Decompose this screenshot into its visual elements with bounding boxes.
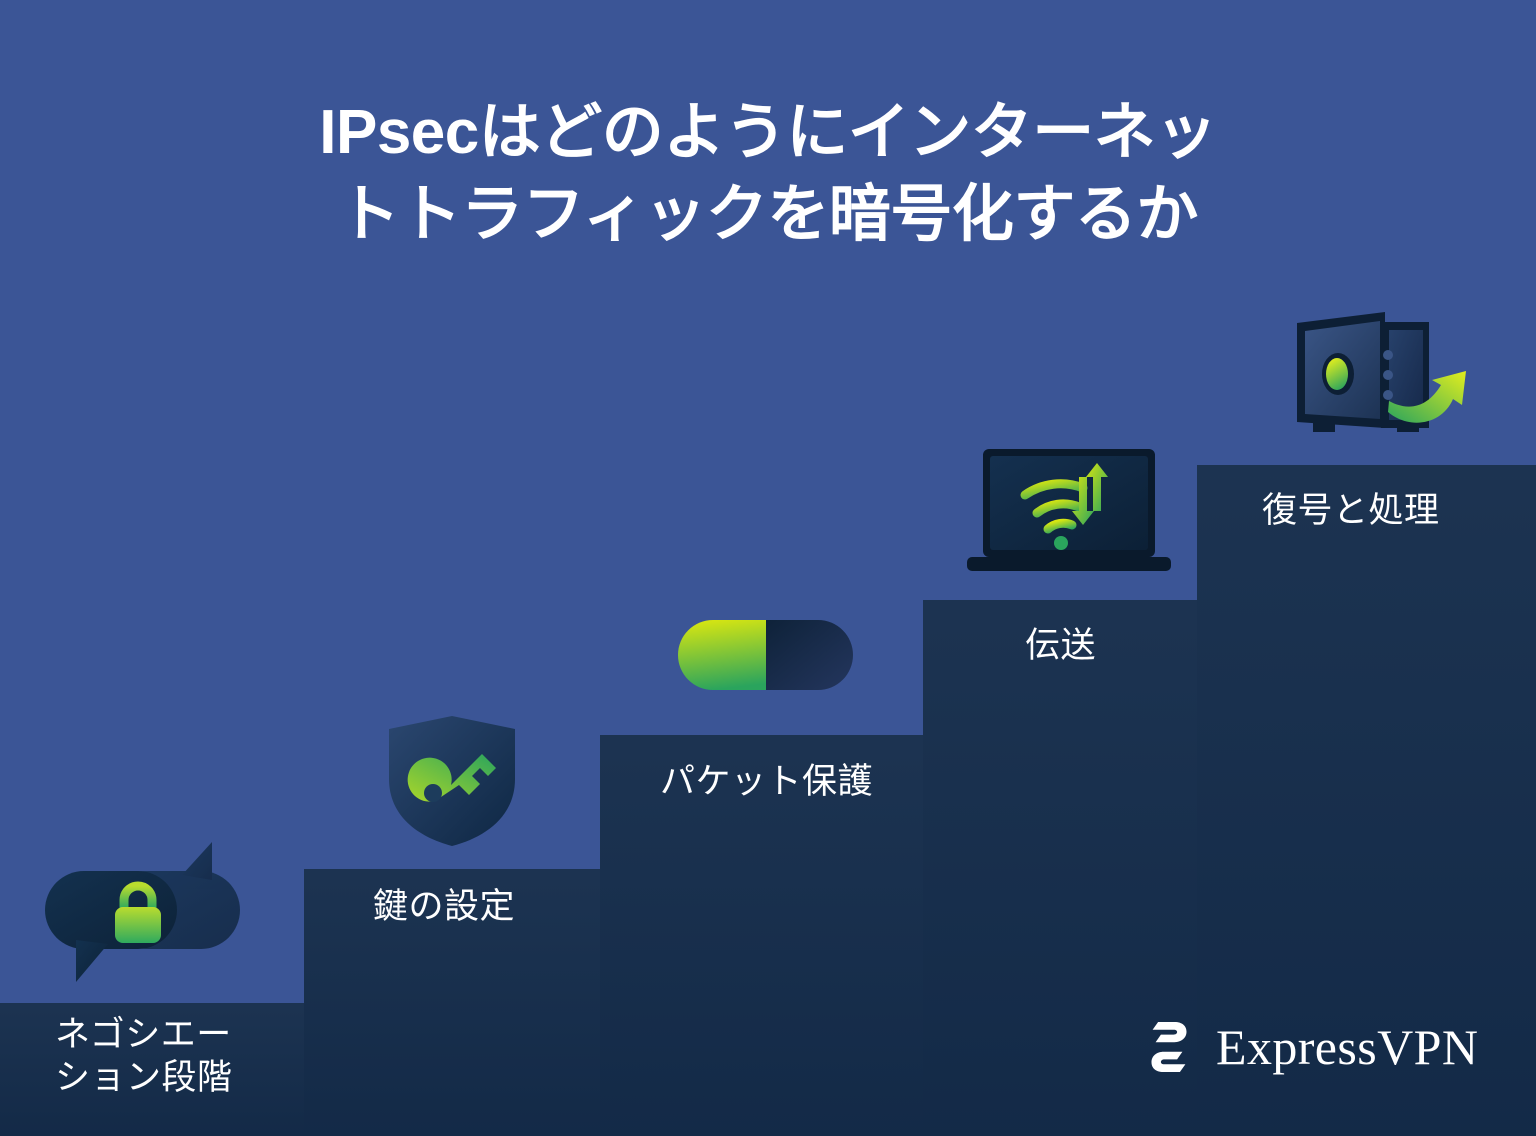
infographic-canvas: IPsecはどのようにインターネッ トトラフィックを暗号化するか — [0, 0, 1536, 1136]
expressvpn-wordmark: ExpressVPN — [1216, 1022, 1478, 1072]
step-label-4: 伝送 — [1025, 624, 1096, 667]
step-label-1: ネゴシエー ション段階 — [55, 1013, 233, 1100]
speech-bubbles-lock-icon — [36, 840, 276, 1000]
laptop-wifi-transfer-icon — [965, 447, 1173, 577]
shield-key-icon — [383, 713, 521, 849]
capsule-packet-icon — [678, 620, 853, 690]
expressvpn-logo: ExpressVPN — [1140, 1018, 1478, 1076]
step-label-3: パケット保護 — [660, 760, 873, 803]
expressvpn-e-mark-icon — [1140, 1018, 1198, 1076]
step-label-5: 復号と処理 — [1262, 489, 1440, 532]
safe-vault-arrow-icon — [1285, 309, 1472, 445]
step-label-2: 鍵の設定 — [373, 885, 515, 928]
